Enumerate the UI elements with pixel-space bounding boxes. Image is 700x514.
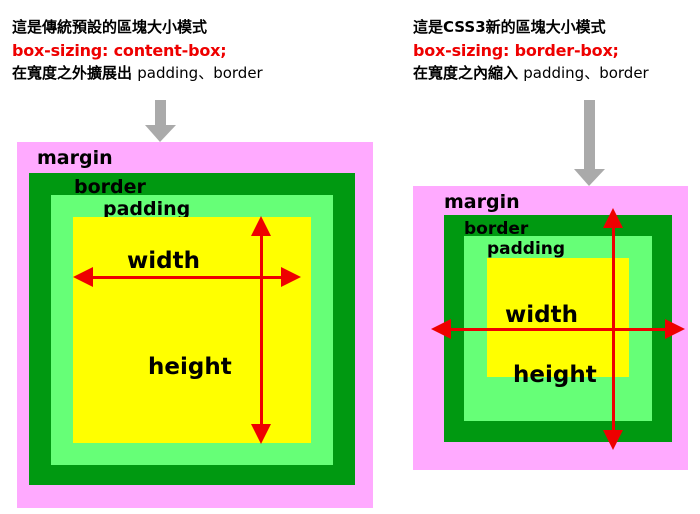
- left-margin-box: margin border padding width height: [17, 142, 373, 508]
- caption-left-line3-cjk: 在寬度之外擴展出: [12, 64, 132, 82]
- right-label-padding: padding: [487, 240, 565, 259]
- arrow-head-up-icon: [603, 208, 623, 228]
- arrow-head-right-icon: [281, 267, 301, 287]
- caption-left-line3: 在寬度之外擴展出 padding、border: [12, 62, 263, 85]
- arrow-head-right-icon: [665, 319, 685, 339]
- caption-right-line1: 這是CSS3新的區塊大小模式: [413, 16, 649, 39]
- left-label-margin: margin: [37, 149, 113, 168]
- caption-left-line1: 這是傳統預設的區塊大小模式: [12, 16, 263, 39]
- arrow-head-down-icon: [603, 430, 623, 450]
- caption-left-line3-latin: padding、border: [137, 64, 262, 82]
- arrow-head-left-icon: [431, 319, 451, 339]
- left-border-box: border padding: [29, 173, 355, 485]
- left-height-arrow: [260, 216, 263, 444]
- left-height-label: height: [148, 356, 232, 379]
- gray-arrow-head-icon: [574, 169, 605, 186]
- arrow-head-down-icon: [251, 424, 271, 444]
- right-height-label: height: [513, 364, 597, 387]
- right-margin-box: margin border padding width height: [413, 186, 688, 470]
- left-height-arrow-shaft: [260, 224, 263, 436]
- gray-down-arrow-left: [145, 100, 176, 142]
- arrow-head-left-icon: [73, 267, 93, 287]
- right-width-label: width: [505, 304, 578, 327]
- right-label-margin: margin: [444, 193, 520, 212]
- right-width-arrow: [431, 328, 685, 331]
- caption-left-code: box-sizing: content-box;: [12, 39, 263, 62]
- caption-right-line3-latin: padding、border: [523, 64, 648, 82]
- gray-arrow-shaft: [155, 100, 166, 125]
- left-width-arrow: [73, 276, 301, 279]
- caption-right-code: box-sizing: border-box;: [413, 39, 649, 62]
- right-height-arrow: [612, 208, 615, 450]
- arrow-head-up-icon: [251, 216, 271, 236]
- gray-arrow-shaft: [584, 100, 595, 169]
- left-padding-box: padding: [51, 195, 333, 465]
- caption-right: 這是CSS3新的區塊大小模式 box-sizing: border-box; 在…: [413, 16, 649, 85]
- caption-right-line3-cjk: 在寬度之內縮入: [413, 64, 518, 82]
- right-height-arrow-shaft: [612, 216, 615, 442]
- gray-arrow-head-icon: [145, 125, 176, 142]
- caption-left: 這是傳統預設的區塊大小模式 box-sizing: content-box; 在…: [12, 16, 263, 85]
- gray-down-arrow-right: [574, 100, 605, 186]
- right-width-arrow-shaft: [439, 328, 677, 331]
- left-width-label: width: [127, 250, 200, 273]
- caption-right-line3: 在寬度之內縮入 padding、border: [413, 62, 649, 85]
